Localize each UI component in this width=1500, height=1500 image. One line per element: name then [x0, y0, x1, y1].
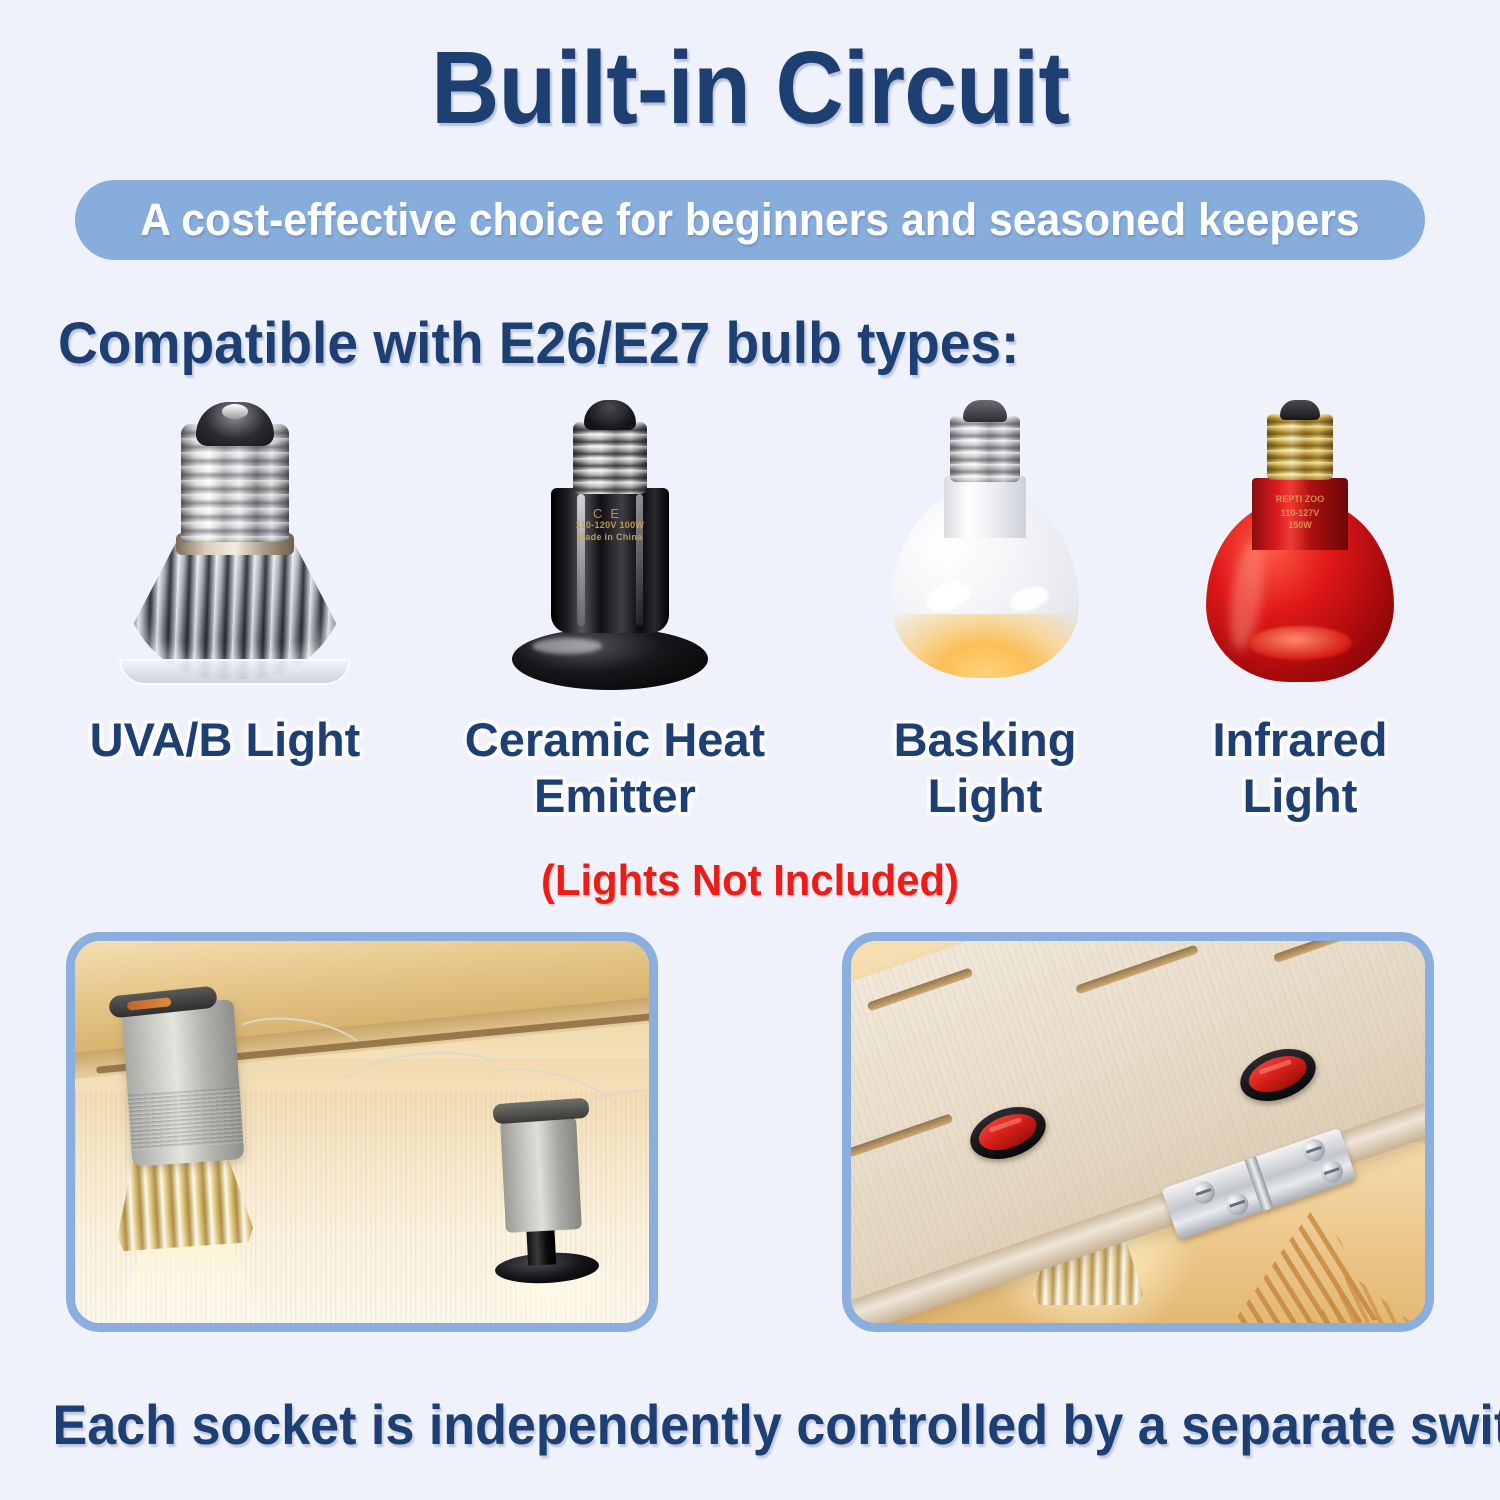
- ir-print-line3: 150W: [1252, 520, 1348, 530]
- infographic-page: Built-in Circuit A cost-effective choice…: [0, 0, 1500, 1500]
- bulb-label-infrared-line2: Light: [1243, 769, 1358, 822]
- bulb-label-uva-b-line1: UVA/B Light: [90, 713, 361, 766]
- page-title: Built-in Circuit: [60, 34, 1440, 142]
- subtitle-text: A cost-effective choice for beginners an…: [140, 194, 1360, 246]
- bulb-item-infrared-light: REPTI ZOO 110-127V 150W: [1205, 400, 1395, 710]
- ir-print-line2: 110-127V: [1252, 508, 1348, 518]
- bulb-item-ceramic-heat-emitter: CE 110-120V 100W Made in China: [510, 400, 710, 710]
- compatibility-heading: Compatible with E26/E27 bulb types:: [58, 310, 1019, 377]
- lid-switches-photo: [842, 932, 1434, 1332]
- bulb-label-ceramic-heat-emitter: Ceramic Heat Emitter: [430, 712, 800, 824]
- lamp-socket-right: [500, 1117, 582, 1233]
- basking-light-icon: [890, 400, 1080, 678]
- bulb-label-che-line2: Emitter: [534, 769, 696, 822]
- ir-print-line1: REPTI ZOO: [1252, 494, 1348, 504]
- bulb-label-che-line1: Ceramic Heat: [465, 713, 765, 766]
- lights-not-included-note: (Lights Not Included): [38, 856, 1463, 906]
- bulb-label-basking-line1: Basking: [894, 713, 1077, 766]
- bulb-label-infrared-light: Infrared Light: [1160, 712, 1440, 824]
- subtitle-banner: A cost-effective choice for beginners an…: [75, 180, 1425, 260]
- footer-caption: Each socket is independently controlled …: [53, 1392, 1448, 1457]
- bulb-item-uva-b: [120, 400, 350, 710]
- sockets-under-lid-photo: [66, 932, 658, 1332]
- uva-b-light-icon: [120, 400, 350, 685]
- lamp-socket-left: [122, 999, 245, 1166]
- bulb-gallery: CE 110-120V 100W Made in China: [0, 400, 1500, 710]
- bulb-label-basking-light: Basking Light: [845, 712, 1125, 824]
- bulb-item-basking-light: [890, 400, 1080, 710]
- bulb-label-basking-line2: Light: [928, 769, 1043, 822]
- bulb-label-infrared-line1: Infrared: [1213, 713, 1388, 766]
- ce-mark-text: CE: [551, 506, 669, 521]
- bulb-label-uva-b: UVA/B Light: [30, 712, 420, 768]
- ceramic-heat-emitter-icon: CE 110-120V 100W Made in China: [510, 400, 710, 690]
- che-print-line1: 110-120V 100W: [551, 520, 669, 531]
- infrared-light-icon: REPTI ZOO 110-127V 150W: [1205, 400, 1395, 682]
- che-print-line2: Made in China: [551, 532, 669, 543]
